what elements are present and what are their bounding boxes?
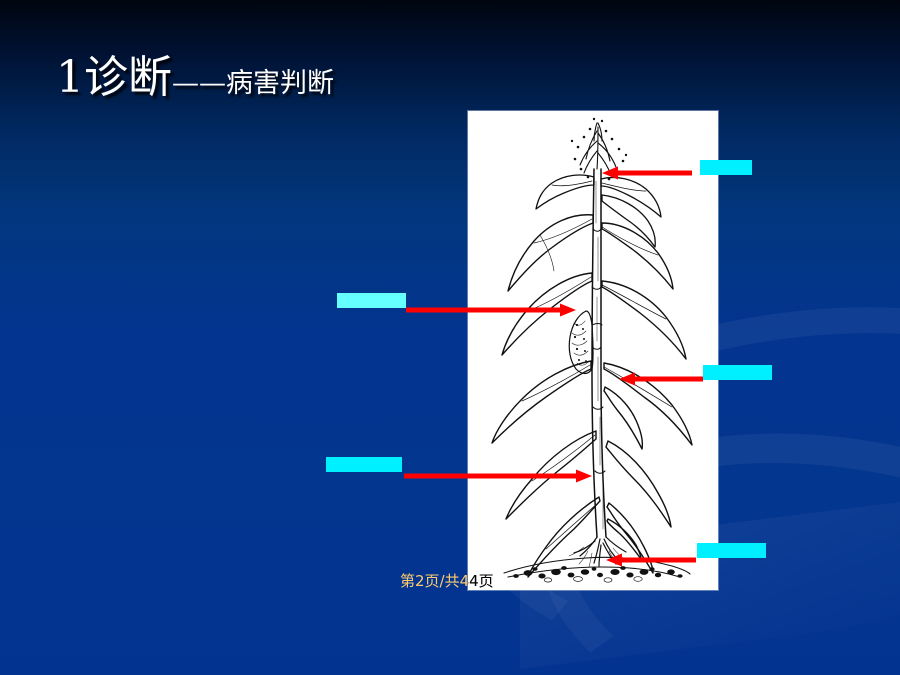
slide-title: 1诊断——病害判断 bbox=[56, 56, 334, 100]
slide-title-main: 1诊断 bbox=[56, 52, 172, 103]
plant-illustration-panel bbox=[468, 111, 718, 590]
callout-chip-root[interactable] bbox=[697, 543, 766, 558]
page-number-footer: 第2页/共44页 bbox=[400, 570, 494, 591]
callout-chip-tassel[interactable] bbox=[700, 160, 752, 175]
callout-chip-ear[interactable] bbox=[337, 293, 406, 308]
presentation-slide: 1诊断——病害判断 bbox=[0, 0, 900, 675]
callout-chip-stalk[interactable] bbox=[703, 365, 772, 380]
callout-chip-leaf[interactable] bbox=[326, 457, 402, 472]
slide-title-subtitle: ——病害判断 bbox=[172, 68, 334, 99]
maize-plant-drawing bbox=[468, 111, 718, 590]
